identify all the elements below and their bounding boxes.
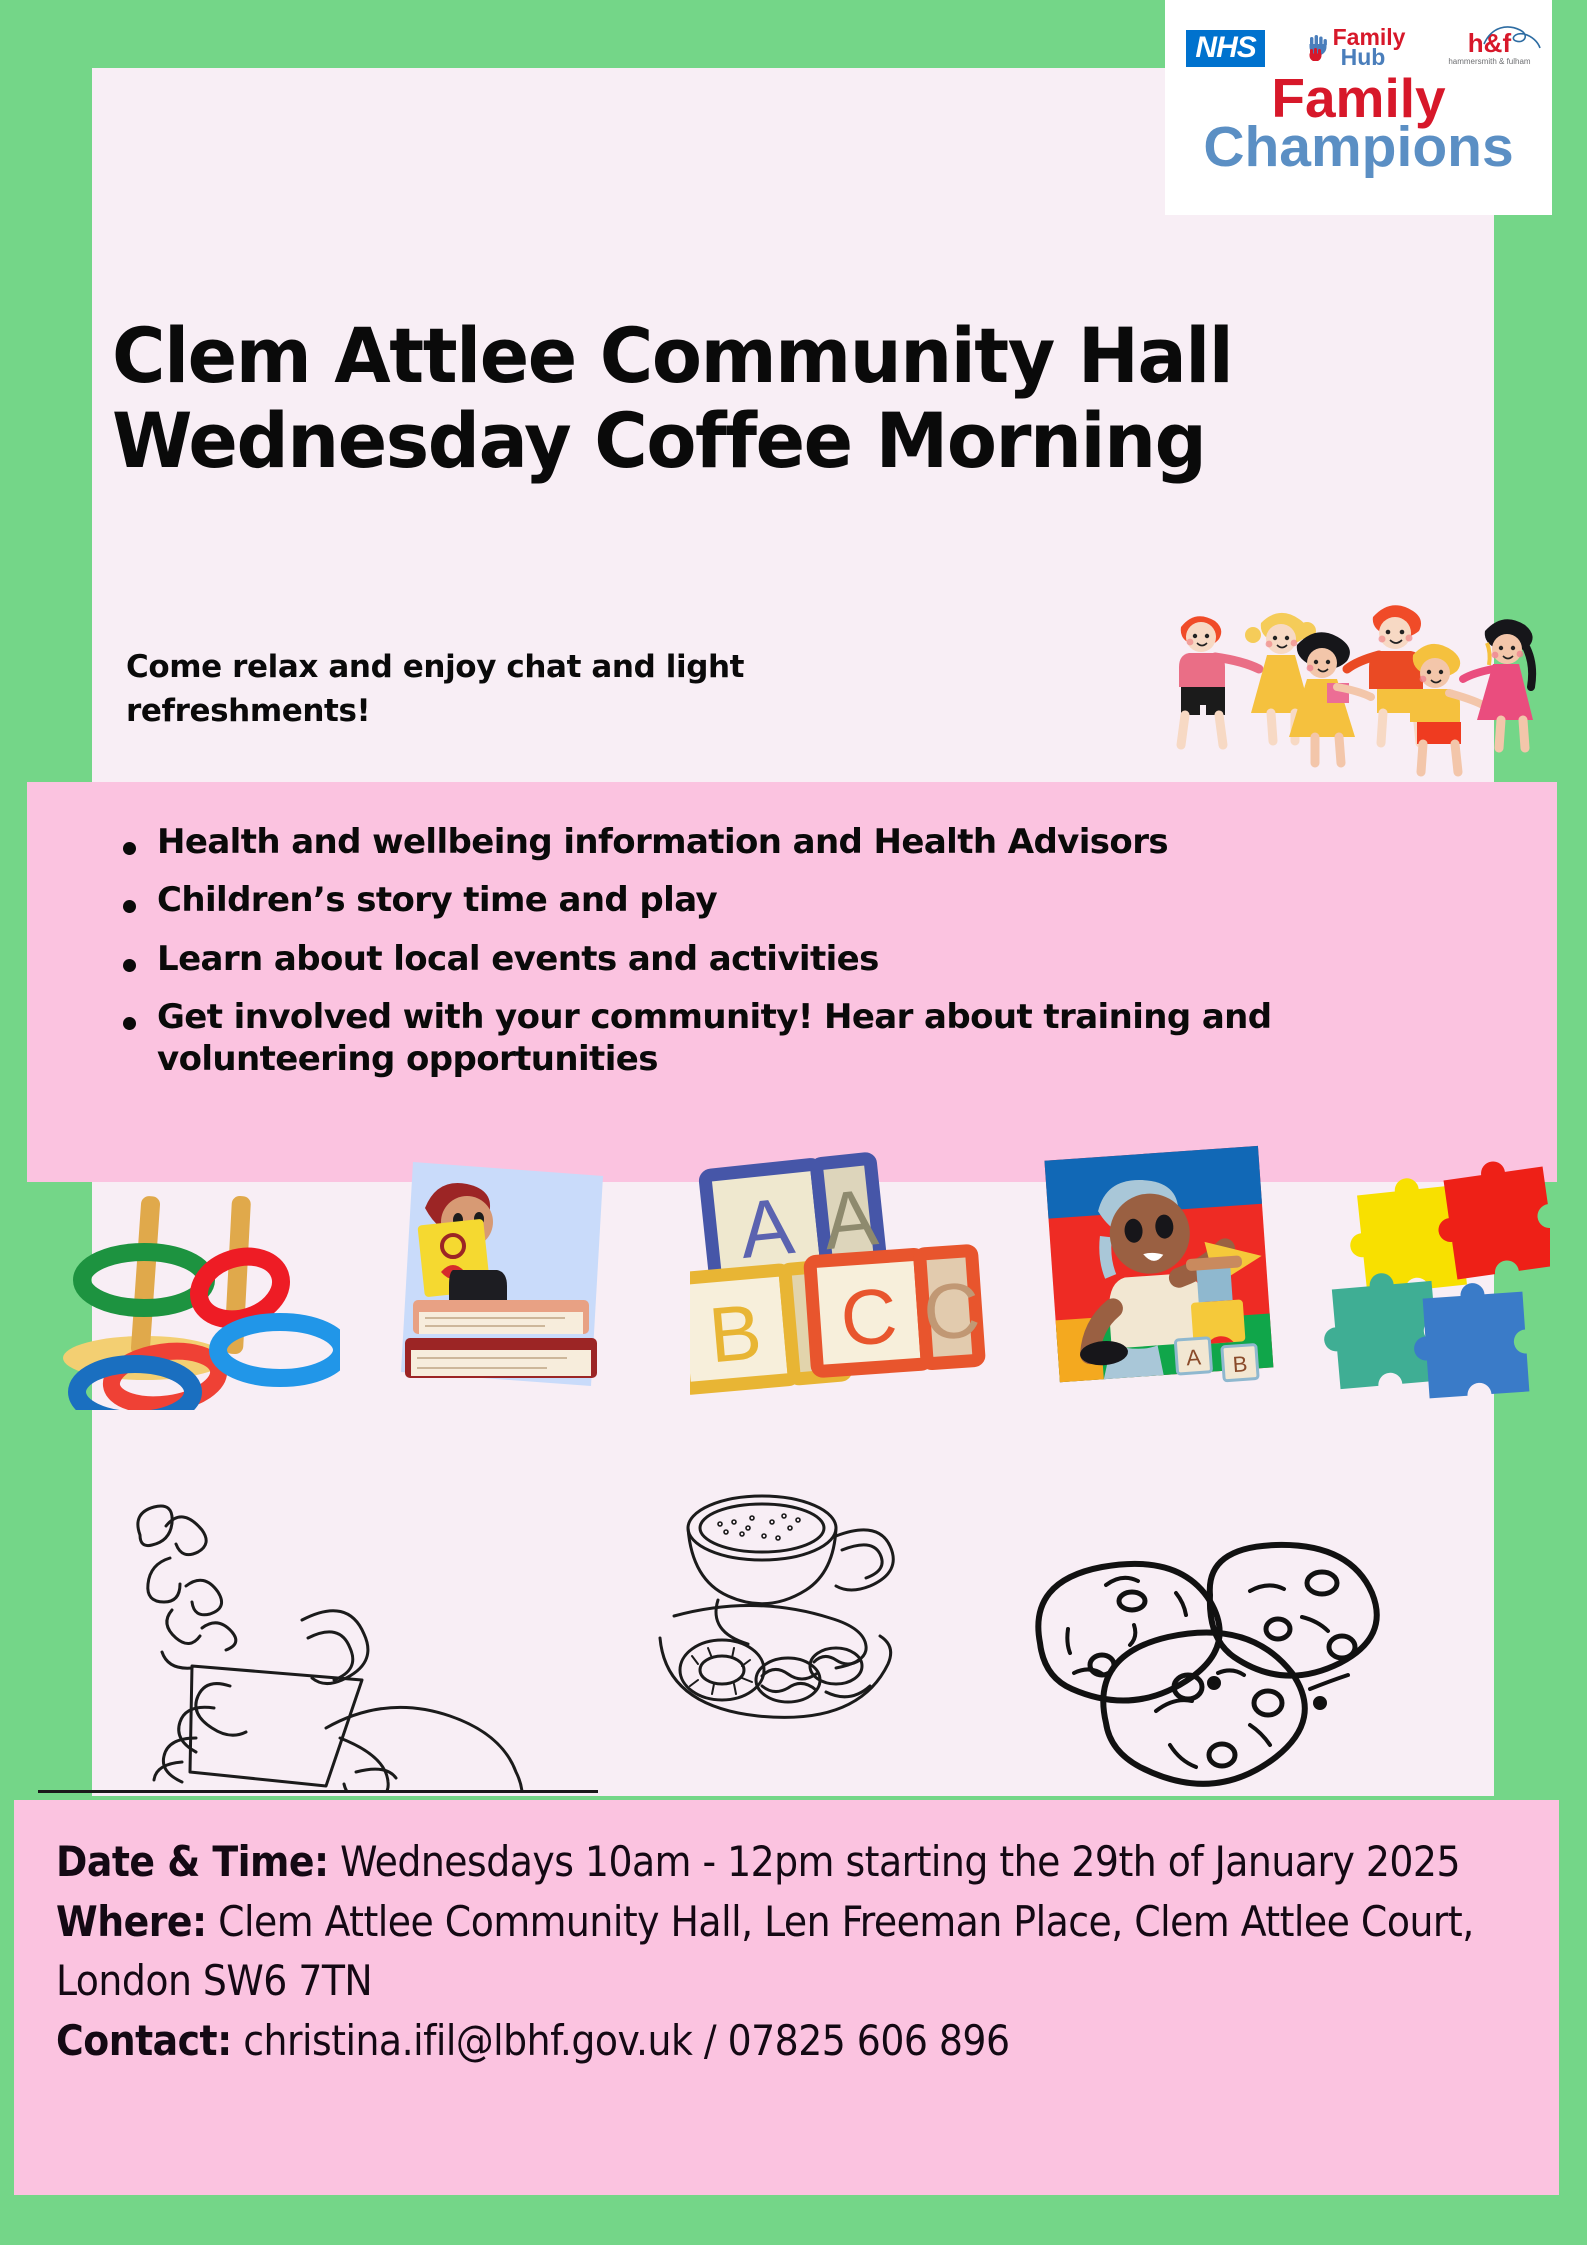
activities-band: Health and wellbeing information and Hea… [27, 782, 1557, 1182]
cookies-illustration [1010, 1525, 1390, 1799]
intro-line1: Come relax and enjoy chat and light [126, 645, 926, 689]
family-hub-logo: Family Hub [1308, 28, 1406, 68]
svg-text:B: B [705, 1287, 765, 1379]
activities-list: Health and wellbeing information and Hea… [27, 782, 1557, 1080]
list-item: Get involved with your community! Hear a… [119, 997, 1517, 1080]
page-title: Clem Attlee Community Hall Wednesday Cof… [112, 313, 1350, 483]
svg-text:C: C [920, 1265, 982, 1357]
svg-text:A: A [1185, 1344, 1202, 1370]
intro-line2: refreshments! [126, 689, 926, 733]
brand-line-champions: Champions [1165, 120, 1552, 174]
hammersmith-fulham-logo: h&f hammersmith & fulham [1448, 30, 1530, 66]
where-value: Clem Attlee Community Hall, Len Freeman … [56, 1897, 1474, 2006]
child-reading-books-illustration [395, 1150, 615, 1404]
list-item: Health and wellbeing information and Hea… [119, 822, 1517, 863]
svg-text:C: C [838, 1271, 900, 1363]
family-hub-line2: Hub [1341, 48, 1406, 68]
ring-toss-game-illustration [40, 1160, 340, 1414]
family-hub-wordmark: Family Hub [1333, 28, 1406, 68]
page-title-line1: Clem Attlee Community Hall [112, 313, 1350, 398]
list-item: Children’s story time and play [119, 880, 1517, 921]
contact-row: Contact: christina.ifil@lbhf.gov.uk / 07… [56, 2011, 1519, 2071]
child-playing-blocks-illustration: A B [1040, 1145, 1280, 1399]
family-champions-wordmark: Family Champions [1165, 72, 1552, 174]
teacup-and-pastries-illustration [630, 1470, 950, 1794]
svg-text:B: B [1232, 1351, 1248, 1377]
date-time-value: Wednesdays 10am - 12pm starting the 29th… [340, 1837, 1460, 1886]
where-row: Where: Clem Attlee Community Hall, Len F… [56, 1892, 1519, 2011]
nhs-logo: NHS [1186, 30, 1264, 67]
hand-holding-coffee-cup-illustration [110, 1480, 550, 1794]
council-name: hammersmith & fulham [1448, 57, 1530, 66]
svg-text:A: A [735, 1181, 798, 1275]
divider-rule [38, 1790, 598, 1793]
family-champions-logo-card: NHS [1165, 0, 1552, 215]
swoosh-icon [1482, 24, 1542, 54]
jigsaw-puzzle-pieces-illustration [1300, 1135, 1550, 1409]
refreshments-lineart-row [0, 1470, 1587, 1810]
abc-alphabet-blocks-illustration: A A B C C [690, 1150, 990, 1404]
intro-text: Come relax and enjoy chat and light refr… [126, 645, 926, 733]
activity-image-strip: A A B C C [0, 1150, 1587, 1450]
page-title-line2: Wednesday Coffee Morning [112, 398, 1350, 483]
contact-label: Contact: [56, 2016, 232, 2065]
where-label: Where: [56, 1897, 207, 1946]
contact-value: christina.ifil@lbhf.gov.uk / 07825 606 8… [243, 2016, 1009, 2065]
date-time-row: Date & Time: Wednesdays 10am - 12pm star… [56, 1832, 1519, 1892]
hand-icon [1308, 35, 1330, 61]
event-details-text: Date & Time: Wednesdays 10am - 12pm star… [14, 1800, 1559, 2071]
event-details-panel: Date & Time: Wednesdays 10am - 12pm star… [14, 1800, 1559, 2195]
poster-canvas: NHS [0, 0, 1587, 2245]
children-holding-hands-illustration [1163, 595, 1558, 780]
list-item: Learn about local events and activities [119, 939, 1517, 980]
date-time-label: Date & Time: [56, 1837, 329, 1886]
